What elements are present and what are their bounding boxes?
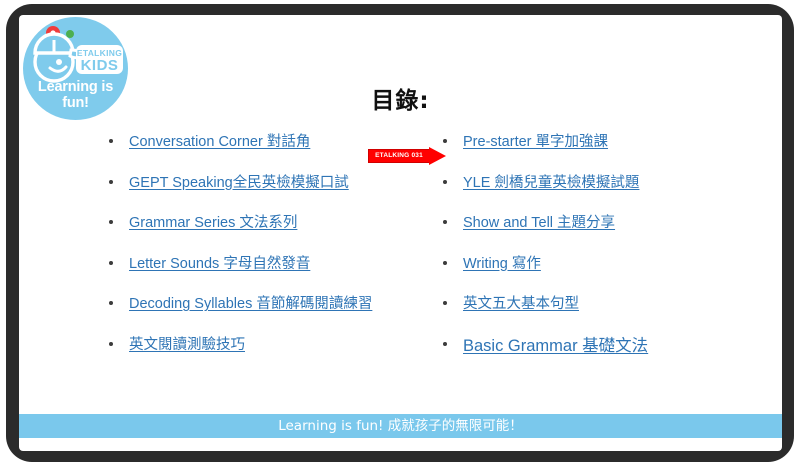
toc-link[interactable]: 英文閱讀測驗技巧 <box>129 337 245 353</box>
list-item[interactable]: Pre-starter 單字加強課 <box>437 133 737 151</box>
callout-label: ETALKING 031 <box>368 149 430 163</box>
footer-banner: Learning is fun! 成就孩子的無限可能！ <box>19 414 782 438</box>
page-title: 目錄: <box>19 81 782 115</box>
svg-text:KIDS: KIDS <box>81 57 119 74</box>
callout-arrow: ETALKING 031 <box>368 147 448 165</box>
toc-link[interactable]: Basic Grammar 基礎文法 <box>463 337 648 355</box>
bullet-icon <box>109 342 113 346</box>
slide-screen: ETALKING KIDS Learning is fun! 目錄: Conve… <box>19 15 782 451</box>
bullet-icon <box>443 342 447 346</box>
bullet-icon <box>109 180 113 184</box>
bullet-icon <box>109 139 113 143</box>
toc-link[interactable]: Pre-starter 單字加強課 <box>463 134 608 150</box>
list-item[interactable]: Basic Grammar 基礎文法 <box>437 336 737 357</box>
toc-link[interactable]: Grammar Series 文法系列 <box>129 215 297 231</box>
bullet-icon <box>109 220 113 224</box>
bullet-icon <box>443 301 447 305</box>
list-item[interactable]: YLE 劍橋兒童英檢模擬試題 <box>437 174 737 192</box>
list-item[interactable]: Show and Tell 主題分享 <box>437 214 737 232</box>
bullet-icon <box>109 261 113 265</box>
device-bezel: ETALKING KIDS Learning is fun! 目錄: Conve… <box>6 4 794 462</box>
toc-link[interactable]: YLE 劍橋兒童英檢模擬試題 <box>463 175 639 191</box>
list-item[interactable]: Writing 寫作 <box>437 255 737 273</box>
table-of-contents: Conversation Corner 對話角 GEPT Speaking全民英… <box>19 133 782 383</box>
toc-left-column: Conversation Corner 對話角 GEPT Speaking全民英… <box>103 133 403 376</box>
arrow-right-icon <box>429 147 446 165</box>
bullet-icon <box>443 139 447 143</box>
toc-link[interactable]: Conversation Corner 對話角 <box>129 134 310 150</box>
toc-link[interactable]: Show and Tell 主題分享 <box>463 215 615 231</box>
list-item[interactable]: Grammar Series 文法系列 <box>103 214 403 232</box>
toc-link[interactable]: Letter Sounds 字母自然發音 <box>129 256 310 272</box>
toc-link[interactable]: 英文五大基本句型 <box>463 296 579 312</box>
list-item[interactable]: GEPT Speaking全民英檢模擬口試 <box>103 174 403 192</box>
toc-right-column: Pre-starter 單字加強課 YLE 劍橋兒童英檢模擬試題 Show an… <box>437 133 737 379</box>
toc-link[interactable]: GEPT Speaking全民英檢模擬口試 <box>129 175 349 191</box>
bullet-icon <box>443 220 447 224</box>
list-item[interactable]: 英文五大基本句型 <box>437 295 737 313</box>
bullet-icon <box>109 301 113 305</box>
bullet-icon <box>443 261 447 265</box>
list-item[interactable]: Letter Sounds 字母自然發音 <box>103 255 403 273</box>
bullet-icon <box>443 180 447 184</box>
list-item[interactable]: Conversation Corner 對話角 <box>103 133 403 151</box>
toc-link[interactable]: Writing 寫作 <box>463 256 541 272</box>
toc-link[interactable]: Decoding Syllables 音節解碼閱讀練習 <box>129 296 372 312</box>
list-item[interactable]: Decoding Syllables 音節解碼閱讀練習 <box>103 295 403 313</box>
list-item[interactable]: 英文閱讀測驗技巧 <box>103 336 403 354</box>
